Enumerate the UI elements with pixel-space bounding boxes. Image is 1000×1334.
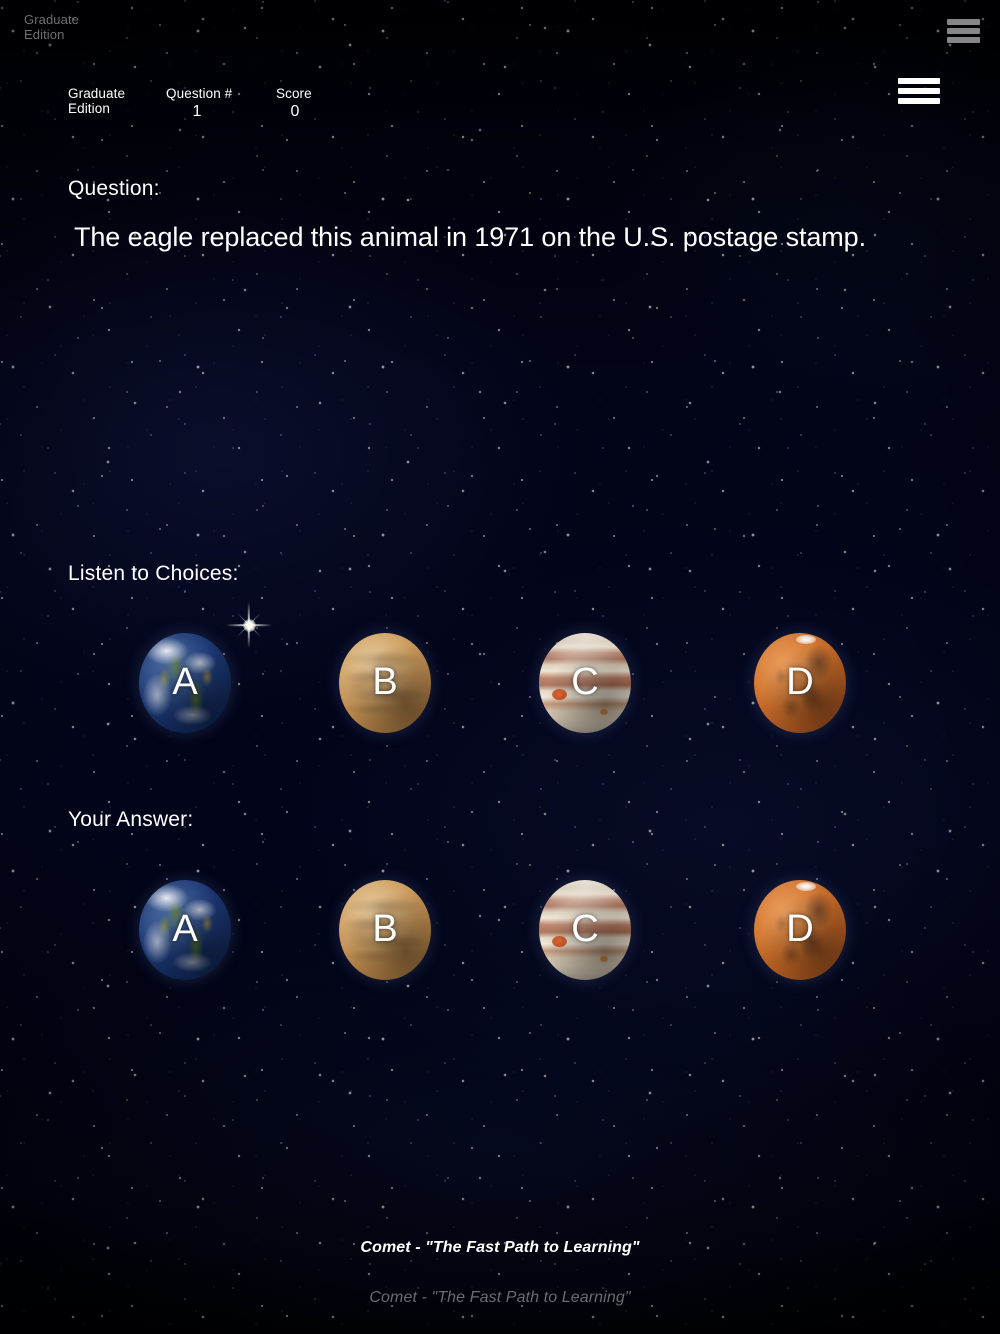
menu-bar [898, 78, 940, 84]
choice-letter: A [139, 633, 231, 733]
listen-to-choices-label: Listen to Choices: [68, 561, 239, 587]
question-label: Question: [68, 176, 160, 202]
ghost-menu-bar [947, 37, 980, 43]
answer-letter: A [139, 880, 231, 980]
choice-letter: D [754, 633, 846, 733]
answer-letter: D [754, 880, 846, 980]
answer-planet-b[interactable]: B [339, 880, 431, 980]
answer-planet-a[interactable]: A [139, 880, 231, 980]
choice-planet-a[interactable]: A [139, 633, 231, 733]
choice-planet-d[interactable]: D [754, 633, 846, 733]
choice-letter: C [539, 633, 631, 733]
score-value: 0 [276, 102, 314, 122]
choice-planet-b[interactable]: B [339, 633, 431, 733]
quiz-screen: Graduate Edition Graduate Edition Questi… [0, 0, 1000, 1334]
footer-tagline-ghost: Comet - "The Fast Path to Learning" [0, 1288, 1000, 1308]
your-answer-label: Your Answer: [68, 807, 193, 833]
answer-letter: C [539, 880, 631, 980]
choices-row: A B C D [0, 633, 1000, 733]
choice-planet-c[interactable]: C [539, 633, 631, 733]
ghost-menu-bar [947, 28, 980, 34]
ghost-menu-icon[interactable] [947, 19, 980, 43]
question-number-value: 1 [166, 102, 228, 122]
ghost-edition-title: Graduate Edition [24, 12, 79, 42]
footer-tagline: Comet - "The Fast Path to Learning" [0, 1238, 1000, 1258]
score-label: Score [276, 86, 314, 101]
menu-bar [898, 88, 940, 94]
question-text: The eagle replaced this animal in 1971 o… [74, 219, 954, 255]
edition-stat: Graduate Edition [68, 86, 125, 116]
menu-bar [898, 98, 940, 104]
answer-planet-c[interactable]: C [539, 880, 631, 980]
answers-row: A B C D [0, 880, 1000, 980]
question-number-label: Question # [166, 86, 232, 101]
hamburger-menu-icon[interactable] [898, 78, 940, 104]
choice-letter: B [339, 633, 431, 733]
edition-label: Graduate Edition [68, 86, 125, 116]
question-number-stat: Question # 1 [166, 86, 232, 122]
answer-planet-d[interactable]: D [754, 880, 846, 980]
status-bar: Graduate Edition Question # 1 Score 0 [0, 82, 1000, 124]
score-stat: Score 0 [276, 86, 314, 122]
ghost-menu-bar [947, 19, 980, 25]
answer-letter: B [339, 880, 431, 980]
